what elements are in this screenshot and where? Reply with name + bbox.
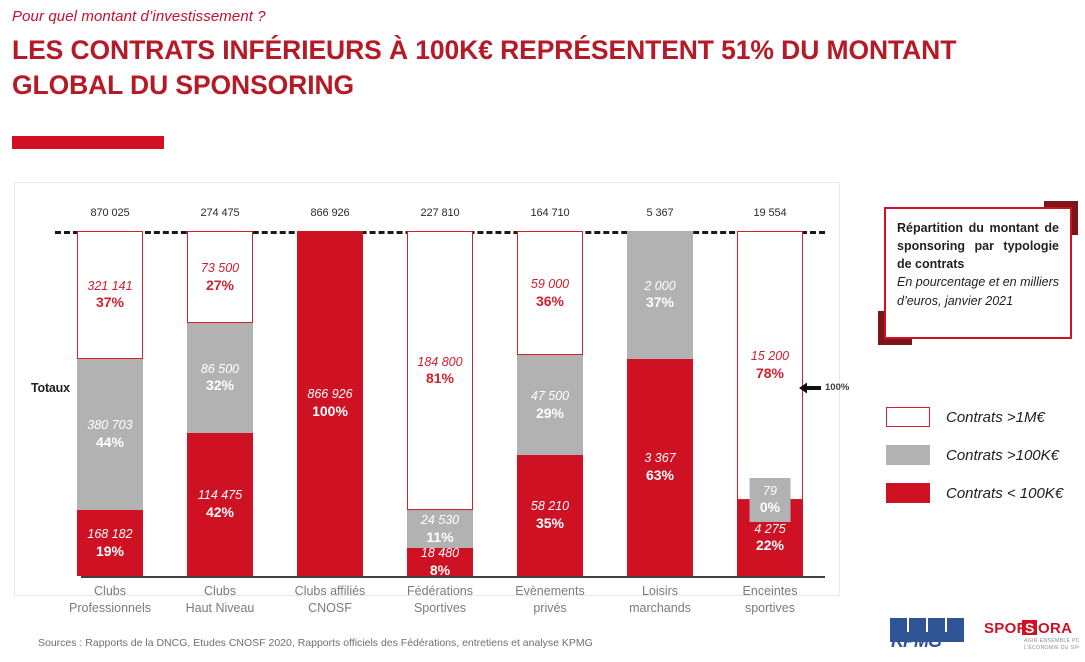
segment-value-label: 866 926 [307, 387, 352, 403]
bar-column: 866 926866 926100%Clubs affiliésCNOSF [275, 207, 385, 577]
slide-kicker: Pour quel montant d’investissement ? [12, 8, 266, 25]
bar-category-label-line: Enceintes [705, 583, 835, 600]
segment-value-label: 2 000 [644, 279, 675, 295]
segment-contrats-sup-1m: 321 14137% [77, 231, 143, 359]
segment-value-label: 321 141 [87, 279, 132, 295]
segment-percent-label: 78% [756, 365, 784, 382]
segment-contrats-inf-100k: 866 926100% [297, 231, 363, 576]
legend-swatch-white [886, 407, 930, 427]
segment-contrats-sup-100k: 86 50032% [187, 323, 253, 432]
segment-percent-label: 35% [536, 515, 564, 532]
title-underline-rule [12, 136, 164, 149]
segment-percent-label: 81% [426, 370, 454, 387]
segment-percent-label: 27% [206, 277, 234, 294]
svg-text:AGIR ENSEMBLE POUR: AGIR ENSEMBLE POUR [1024, 638, 1079, 644]
sources-note: Sources : Rapports de la DNCG, Etudes CN… [38, 637, 593, 649]
legend-item[interactable]: Contrats >1M€ [886, 398, 1081, 436]
callout-subtitle: En pourcentage et en milliers d’euros, j… [897, 273, 1059, 309]
svg-text:L’ÉCONOMIE DU SPORT: L’ÉCONOMIE DU SPORT [1024, 644, 1079, 651]
segment-percent-label: 37% [96, 294, 124, 311]
segment-contrats-sup-100k: 24 53011% [407, 510, 473, 548]
segment-value-label: 3 367 [644, 451, 675, 467]
footer-logos: KPMG SPOR S ORA AGIR ENSEMBLE POUR L’ÉCO… [888, 613, 1078, 655]
bar-category-label: Enceintessportives [705, 583, 835, 616]
segment-contrats-inf-100k: 18 4808% [407, 548, 473, 576]
segment-value-label: 79 [763, 484, 777, 499]
segment-percent-label: 22% [756, 537, 784, 554]
segment-percent-label: 11% [426, 529, 453, 546]
segment-percent-label: 100% [312, 403, 348, 420]
segment-value-label: 114 475 [198, 488, 242, 504]
segment-percent-label: 29% [536, 405, 564, 422]
bar-total-value: 274 475 [200, 207, 239, 219]
bar-category-label-line: sportives [705, 600, 835, 617]
bar-column: 5 3672 00037%3 36763%Loisirsmarchands [605, 207, 715, 577]
segment-value-label: 73 500 [201, 261, 239, 277]
left-arrow-icon [799, 381, 821, 395]
kpmg-logo: KPMG [888, 617, 972, 656]
segment-contrats-inf-100k: 58 21035% [517, 455, 583, 576]
bar-total-value: 19 554 [753, 207, 786, 219]
bar-stack: 59 00036%47 50029%58 21035% [517, 231, 583, 576]
segment-contrats-sup-100k: 380 70344% [77, 359, 143, 511]
svg-text:S: S [1025, 620, 1034, 636]
bar-stack: 15 20078%790%4 27522% [737, 231, 803, 576]
segment-percent-label: 63% [646, 467, 674, 484]
legend-item[interactable]: Contrats >100K€ [886, 436, 1081, 474]
bar-stack: 73 50027%86 50032%114 47542% [187, 231, 253, 576]
segment-percent-label: 42% [206, 504, 234, 521]
segment-value-label: 86 500 [201, 362, 239, 378]
legend-label: Contrats >100K€ [946, 447, 1059, 464]
chart-container: 870 025321 14137%380 70344%168 18219%Clu… [14, 182, 840, 596]
segment-contrats-inf-100k: 114 47542% [187, 433, 253, 576]
segment-value-label: 58 210 [531, 499, 569, 515]
segment-percent-label: 19% [96, 543, 124, 560]
segment-value-label: 184 800 [417, 355, 462, 371]
legend-label: Contrats < 100K€ [946, 485, 1063, 502]
segment-contrats-sup-100k: 2 00037% [627, 231, 693, 359]
segment-percent-label: 8% [430, 562, 450, 579]
page-title: LES CONTRATS INFÉRIEURS À 100K€ REPRÉSEN… [12, 33, 1032, 103]
bar-stack: 866 926100% [297, 231, 363, 576]
segment-value-label: 168 182 [87, 527, 132, 543]
segment-contrats-sup-100k: 790% [750, 478, 791, 522]
svg-text:KPMG: KPMG [891, 631, 942, 651]
bar-stack: 321 14137%380 70344%168 18219% [77, 231, 143, 576]
segment-contrats-sup-1m: 59 00036% [517, 231, 583, 355]
bar-total-value: 227 810 [420, 207, 459, 219]
bar-total-value: 870 025 [90, 207, 129, 219]
bar-column: 274 47573 50027%86 50032%114 47542%Clubs… [165, 207, 275, 577]
bar-total-value: 5 367 [646, 207, 673, 219]
bar-column: 227 810184 80081%24 53011%18 4808%Fédéra… [385, 207, 495, 577]
bar-stack: 184 80081%24 53011%18 4808% [407, 231, 473, 576]
bar-total-value: 164 710 [530, 207, 569, 219]
segment-percent-label: 36% [536, 293, 564, 310]
pct100-label: 100% [825, 382, 849, 393]
segment-percent-label: 32% [206, 377, 234, 394]
bar-column: 164 71059 00036%47 50029%58 21035%Evènem… [495, 207, 605, 577]
totaux-label: Totaux [31, 381, 70, 395]
svg-text:SPOR: SPOR [984, 620, 1028, 637]
segment-contrats-sup-100k: 47 50029% [517, 355, 583, 455]
segment-contrats-sup-1m: 73 50027% [187, 231, 253, 323]
segment-percent-label: 0% [760, 499, 780, 516]
segment-value-label: 4 275 [754, 522, 785, 538]
segment-percent-label: 37% [646, 294, 674, 311]
legend-swatch-gray [886, 445, 930, 465]
segment-contrats-sup-1m: 184 80081% [407, 231, 473, 510]
callout-box: Répartition du montant de sponsoring par… [884, 207, 1072, 339]
sporsora-logo: SPOR S ORA AGIR ENSEMBLE POUR L’ÉCONOMIE… [984, 617, 1079, 656]
segment-contrats-sup-1m: 15 20078% [737, 231, 803, 500]
chart-legend: Contrats >1M€Contrats >100K€Contrats < 1… [886, 398, 1081, 512]
segment-value-label: 24 530 [421, 513, 459, 529]
segment-value-label: 18 480 [421, 546, 459, 562]
segment-value-label: 380 703 [87, 418, 132, 434]
segment-value-label: 59 000 [531, 277, 569, 293]
legend-label: Contrats >1M€ [946, 409, 1045, 426]
callout-title: Répartition du montant de sponsoring par… [897, 219, 1059, 273]
segment-value-label: 47 500 [531, 389, 569, 405]
chart-plot-area: 870 025321 14137%380 70344%168 18219%Clu… [55, 207, 825, 577]
svg-text:ORA: ORA [1038, 620, 1072, 637]
legend-item[interactable]: Contrats < 100K€ [886, 474, 1081, 512]
segment-percent-label: 44% [96, 434, 124, 451]
slide-root: Pour quel montant d’investissement ? LES… [0, 0, 1085, 662]
legend-swatch-red [886, 483, 930, 503]
segment-contrats-inf-100k: 168 18219% [77, 510, 143, 576]
bar-stack: 2 00037%3 36763% [627, 231, 693, 576]
bar-total-value: 866 926 [310, 207, 349, 219]
segment-value-label: 15 200 [751, 349, 789, 365]
bar-column: 870 025321 14137%380 70344%168 18219%Clu… [55, 207, 165, 577]
segment-contrats-inf-100k: 3 36763% [627, 359, 693, 576]
callout-body: Répartition du montant de sponsoring par… [884, 207, 1072, 339]
